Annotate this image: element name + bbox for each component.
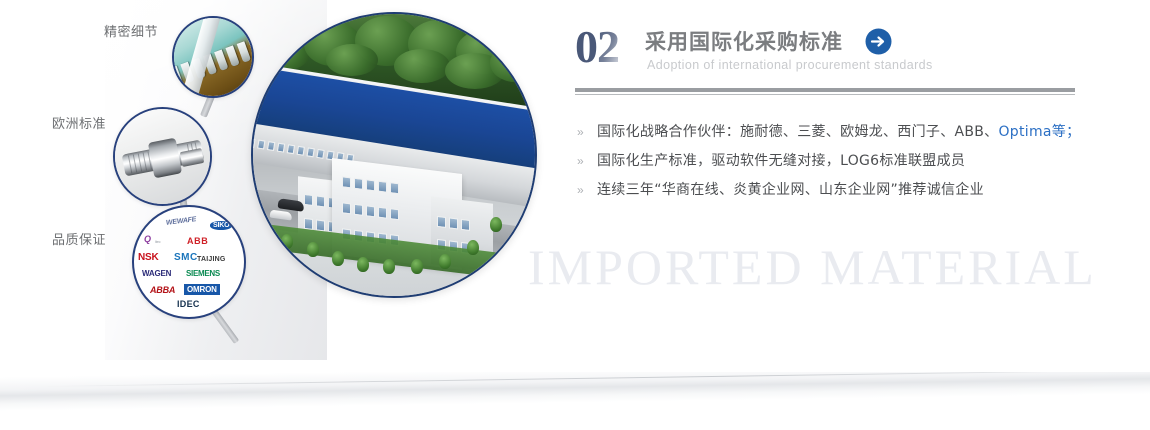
- list-item: » 连续三年“华商在线、炎黄企业网、山东企业网”推荐诚信企业: [575, 176, 1095, 205]
- side-label-precision: 精密细节: [104, 21, 158, 40]
- chevron-double-right-icon: »: [577, 147, 584, 176]
- chevron-double-right-icon: »: [577, 176, 584, 205]
- logo-omron: OMRON: [184, 284, 220, 295]
- page-subtitle: Adoption of international procurement st…: [647, 58, 933, 72]
- logo-wagen: WAGEN: [142, 269, 171, 278]
- watermark-text: IMPORTED MATERIAL: [528, 238, 1097, 296]
- side-label-european-standard: 欧洲标准: [52, 113, 106, 132]
- logo-taijing: TAIJING: [197, 256, 226, 263]
- bullet-text-1: 国际化战略合作伙伴：施耐德、三菱、欧姆龙、西门子、ABB、Optima等；: [597, 118, 1080, 147]
- logo-idec: IDEC: [177, 299, 200, 309]
- bullet-list: » 国际化战略合作伙伴：施耐德、三菱、欧姆龙、西门子、ABB、Optima等； …: [575, 118, 1095, 205]
- logo-abba: ABBA: [150, 285, 175, 295]
- logo-abb: ABB: [187, 236, 208, 246]
- divider-thin-line: [575, 94, 1075, 95]
- content-column: 02 采用国际化采购标准 Adoption of international p…: [575, 22, 1095, 84]
- bullet-text-1-accent: Optima等；: [998, 124, 1080, 140]
- promo-banner: 精密细节 欧洲标准 品质保证: [0, 0, 1150, 430]
- bullet-text-2: 国际化生产标准，驱动软件无缝对接，LOG6标准联盟成员: [597, 147, 965, 176]
- swoosh-band: [0, 372, 1150, 412]
- brand-logos-collage: WEWAFE SIKO Q ltec ABB NSK SMC TAIJING W…: [132, 205, 246, 319]
- arrow-right-circle-icon[interactable]: [865, 28, 892, 55]
- logo-q-subtext: ltec: [155, 239, 160, 244]
- chevron-double-right-icon: »: [577, 118, 584, 147]
- logo-nsk: NSK: [138, 252, 159, 263]
- page-title: 采用国际化采购标准: [645, 26, 843, 56]
- logo-siemens: SIEMENS: [186, 269, 220, 278]
- section-header: 02 采用国际化采购标准 Adoption of international p…: [575, 22, 1095, 84]
- swoosh-line: [40, 372, 1150, 387]
- logo-smc: SMC: [174, 252, 198, 263]
- logo-q: Q: [144, 234, 151, 244]
- factory-aerial-photo: [251, 12, 537, 298]
- ball-screw-photo: [113, 107, 212, 206]
- header-divider: [575, 88, 1075, 95]
- side-label-quality-assurance: 品质保证: [52, 229, 106, 248]
- bullet-text-1-main: 国际化战略合作伙伴：施耐德、三菱、欧姆龙、西门子、ABB、: [597, 124, 998, 140]
- bottom-shadow-swoosh: [0, 372, 1150, 430]
- bullet-text-3: 连续三年“华商在线、炎黄企业网、山东企业网”推荐诚信企业: [597, 176, 984, 205]
- list-item: » 国际化生产标准，驱动软件无缝对接，LOG6标准联盟成员: [575, 147, 1095, 176]
- logo-siko: SIKO: [210, 221, 232, 230]
- gear-detail-photo: [172, 16, 254, 98]
- section-number: 02: [575, 22, 619, 72]
- list-item: » 国际化战略合作伙伴：施耐德、三菱、欧姆龙、西门子、ABB、Optima等；: [575, 118, 1095, 147]
- logo-smc-mark: [133, 206, 149, 218]
- logo-idec-bar: [134, 216, 138, 225]
- logo-wewafe: WEWAFE: [166, 216, 197, 227]
